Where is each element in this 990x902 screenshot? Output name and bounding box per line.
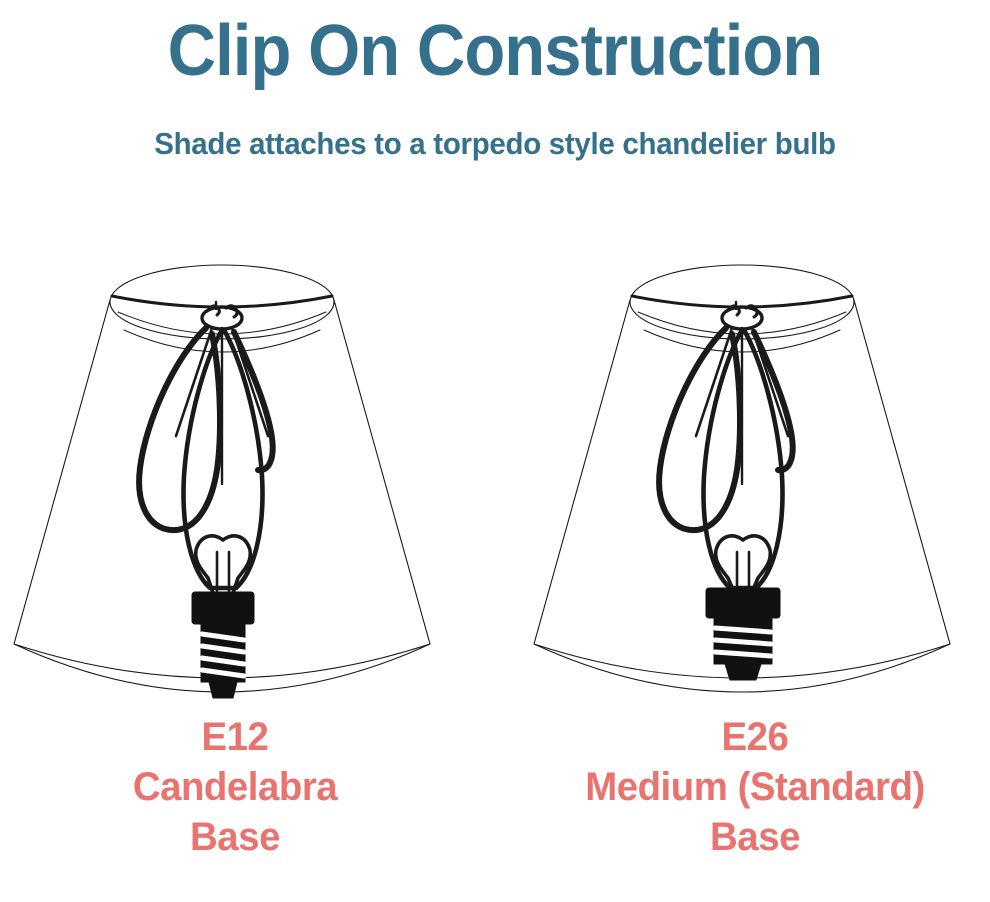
shade-left-edge bbox=[14, 300, 110, 644]
base-shoulder-e26 bbox=[706, 588, 780, 618]
caption-e26-line3: Base bbox=[529, 812, 980, 862]
lamp-shade-e26-illustration bbox=[520, 240, 990, 710]
shade-right-edge bbox=[854, 300, 950, 644]
shade-left-edge bbox=[534, 300, 630, 644]
lamp-shade-e12-illustration bbox=[0, 240, 470, 710]
base-contact-tip-e26 bbox=[725, 664, 761, 680]
figure-e26 bbox=[520, 240, 990, 710]
infographic-page: Clip On Construction Shade attaches to a… bbox=[0, 0, 990, 902]
caption-e12: E12 Candelabra Base bbox=[9, 712, 460, 862]
shade-right-edge bbox=[334, 300, 430, 644]
base-contact-tip-e12 bbox=[209, 682, 237, 698]
caption-e26: E26 Medium (Standard) Base bbox=[529, 712, 980, 862]
caption-e12-code: E12 bbox=[9, 712, 460, 762]
page-subtitle: Shade attaches to a torpedo style chande… bbox=[25, 124, 966, 164]
caption-e26-code: E26 bbox=[529, 712, 980, 762]
base-shoulder-e12 bbox=[192, 592, 254, 624]
caption-e26-line2: Medium (Standard) bbox=[529, 762, 980, 812]
page-title: Clip On Construction bbox=[35, 8, 956, 94]
figure-e12 bbox=[0, 240, 470, 710]
caption-e12-line3: Base bbox=[9, 812, 460, 862]
caption-e12-line2: Candelabra bbox=[9, 762, 460, 812]
